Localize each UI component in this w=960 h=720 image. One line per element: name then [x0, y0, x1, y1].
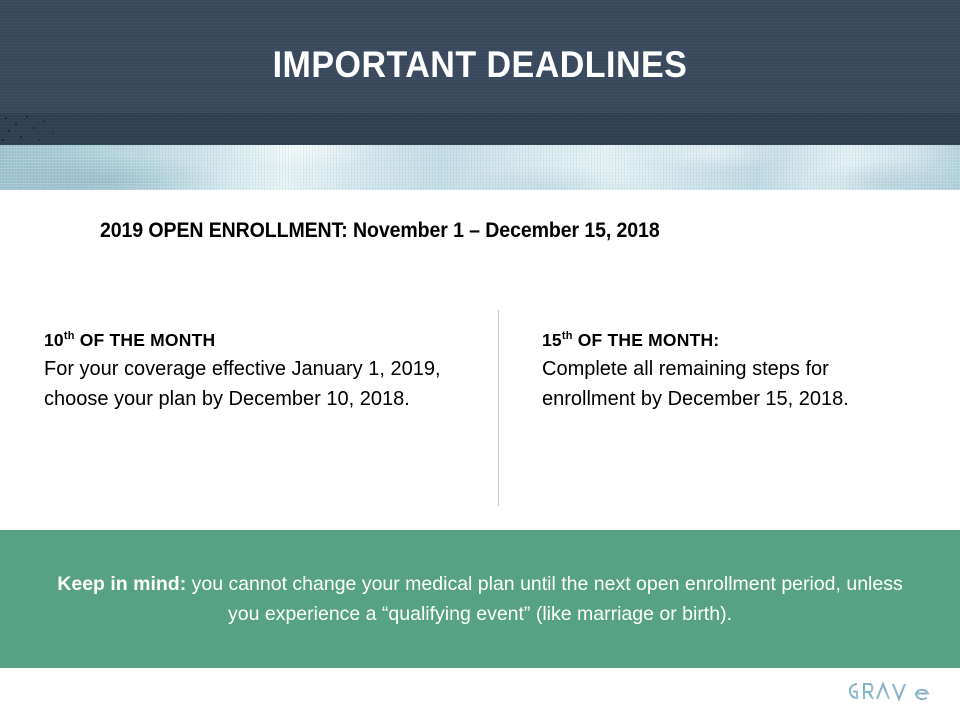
open-enrollment-subtitle: 2019 OPEN ENROLLMENT: November 1 – Decem… — [100, 219, 660, 243]
deadline-heading-rest: OF THE MONTH — [75, 330, 216, 350]
gravie-logo — [842, 674, 946, 708]
deadline-body-15th: Complete all remaining steps for enrollm… — [542, 354, 922, 414]
deadline-column-10th: 10th OF THE MONTH For your coverage effe… — [44, 328, 454, 414]
callout-text: Keep in mind: you cannot change your med… — [40, 569, 920, 629]
slide: IMPORTANT DEADLINES 2019 OPEN ENROLLMENT… — [0, 0, 960, 720]
deadline-heading-15th: 15th OF THE MONTH: — [542, 328, 922, 353]
deadline-column-15th: 15th OF THE MONTH: Complete all remainin… — [542, 328, 922, 414]
header-band-lower — [0, 113, 960, 145]
deadline-body-10th: For your coverage effective January 1, 2… — [44, 354, 454, 414]
column-divider — [498, 310, 499, 506]
deadline-ordinal-suffix: th — [562, 330, 573, 342]
keep-in-mind-callout: Keep in mind: you cannot change your med… — [0, 530, 960, 668]
deadline-ordinal-suffix: th — [64, 330, 75, 342]
deadline-heading-10th: 10th OF THE MONTH — [44, 328, 454, 353]
callout-lead-label: Keep in mind: — [57, 573, 186, 595]
page-title: IMPORTANT DEADLINES — [38, 44, 921, 86]
watercolor-divider-band — [0, 145, 960, 190]
deadline-day-number: 10 — [44, 330, 64, 350]
callout-body-text: you cannot change your medical plan unti… — [186, 573, 903, 625]
deadline-heading-rest: OF THE MONTH: — [573, 330, 720, 350]
deadline-day-number: 15 — [542, 330, 562, 350]
deadline-columns: 10th OF THE MONTH For your coverage effe… — [0, 310, 960, 510]
